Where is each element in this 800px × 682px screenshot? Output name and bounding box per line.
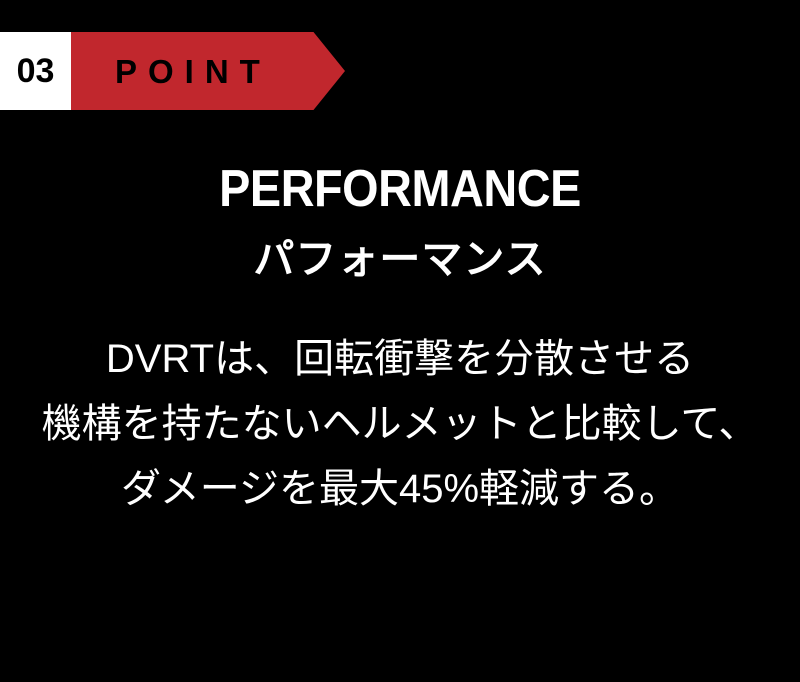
body-line-1: DVRTは、回転衝撃を分散させる xyxy=(0,327,800,392)
performance-slide: 03 POINT PERFORMANCE パフォーマンス DVRTは、回転衝撃を… xyxy=(0,0,800,682)
heading-block: PERFORMANCE パフォーマンス xyxy=(0,160,800,284)
point-banner: 03 POINT xyxy=(0,32,345,110)
point-number-badge: 03 xyxy=(0,32,71,110)
body-text-block: DVRTは、回転衝撃を分散させる 機構を持たないヘルメットと比較して、 ダメージ… xyxy=(0,327,800,522)
point-label: POINT xyxy=(71,55,271,88)
section-title-japanese: パフォーマンス xyxy=(0,234,800,284)
body-line-2: 機構を持たないヘルメットと比較して、 xyxy=(0,392,800,457)
body-line-3: ダメージを最大45%軽減する。 xyxy=(0,457,800,522)
section-title-english: PERFORMANCE xyxy=(40,160,760,218)
point-arrow-shape: POINT xyxy=(71,32,345,110)
